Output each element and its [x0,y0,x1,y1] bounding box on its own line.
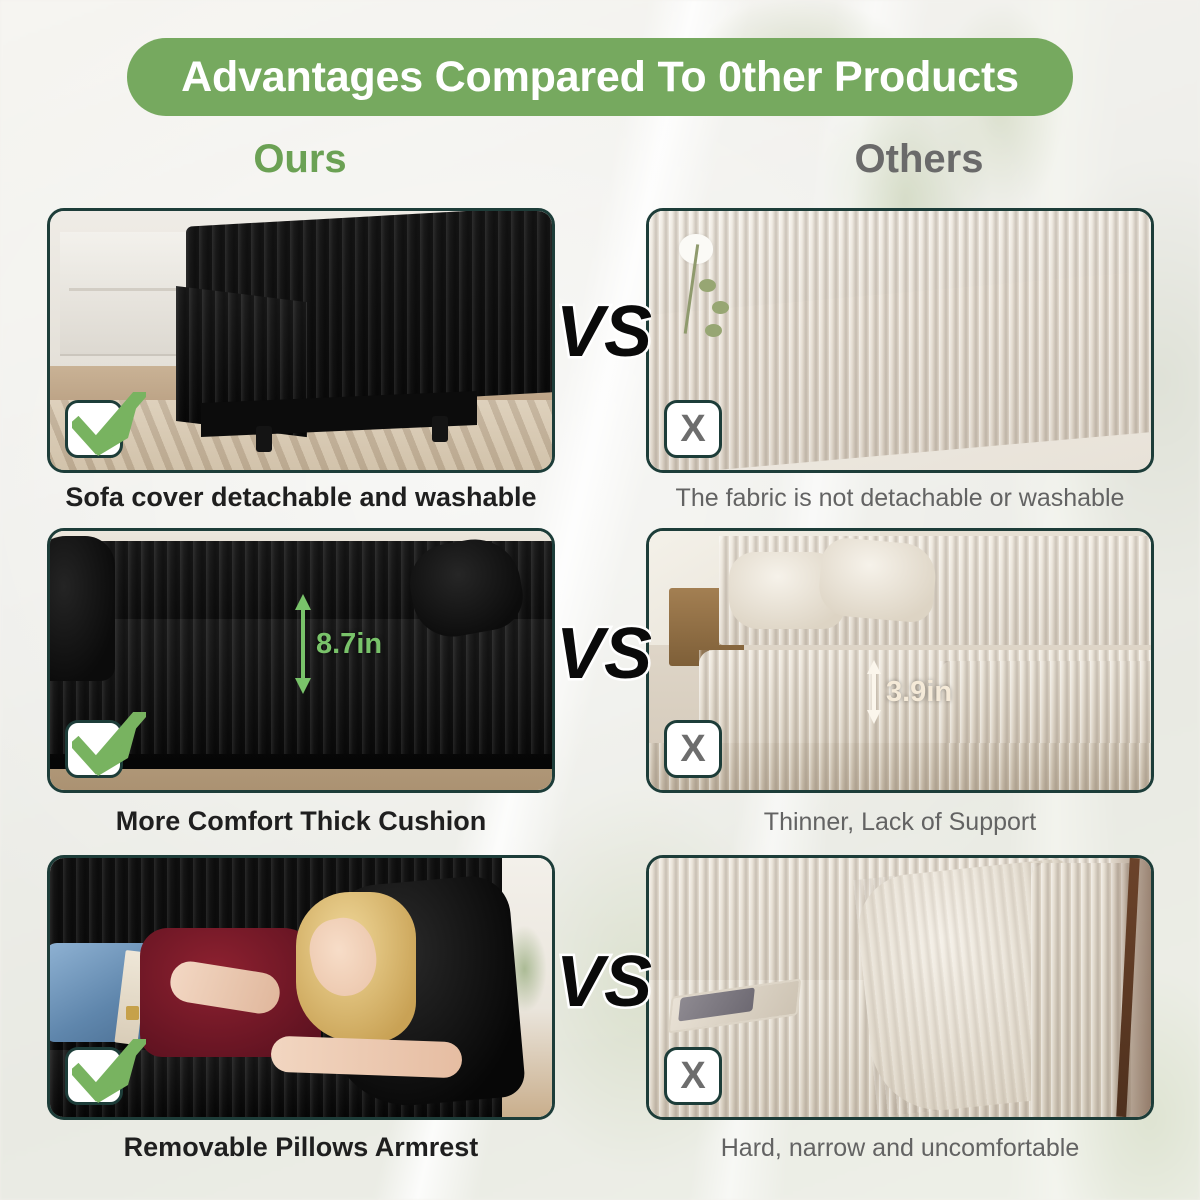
measurement-ours: 8.7in [292,592,382,696]
x-badge: X [664,400,722,458]
ours-photo-card-1 [47,208,555,473]
svg-text:VS: VS [557,294,651,370]
x-badge: X [664,720,722,778]
column-header-others: Others [769,137,1069,182]
double-arrow-icon [864,658,884,726]
others-photo-card-3: X [646,855,1154,1120]
check-icon [72,712,146,778]
check-badge [65,720,123,778]
measurement-others-value: 3.9in [886,676,952,709]
comparison-infographic: Advantages Compared To 0ther Products Ou… [0,0,1200,1200]
caption-others-1: The fabric is not detachable or washable [646,484,1154,513]
double-arrow-icon [292,592,314,696]
ours-photo-card-3 [47,855,555,1120]
x-icon: X [680,1057,705,1095]
photo-cream-sofa-fixed-fabric [649,211,1151,470]
check-badge [65,1047,123,1105]
photo-cream-sofa-hard-narrow-armrest [649,858,1151,1117]
caption-ours-2: More Comfort Thick Cushion [47,806,555,837]
check-badge [65,400,123,458]
svg-text:VS: VS [557,616,651,692]
page-title: Advantages Compared To 0ther Products [181,53,1019,102]
vs-icon: VS [557,294,651,370]
caption-others-2: Thinner, Lack of Support [646,808,1154,837]
decor-orchid [659,232,769,356]
x-icon: X [680,410,705,448]
column-header-ours: Ours [150,137,450,182]
caption-ours-1: Sofa cover detachable and washable [47,482,555,513]
title-banner: Advantages Compared To 0ther Products [127,38,1073,116]
x-badge: X [664,1047,722,1105]
others-photo-card-1: X [646,208,1154,473]
caption-ours-3: Removable Pillows Armrest [47,1132,555,1163]
svg-text:VS: VS [557,944,651,1020]
measurement-others: 3.9in [864,658,952,726]
check-icon [72,392,146,458]
measurement-ours-value: 8.7in [316,628,382,661]
vs-icon: VS [557,616,651,692]
x-icon: X [680,730,705,768]
vs-icon: VS [557,944,651,1020]
caption-others-3: Hard, narrow and uncomfortable [646,1134,1154,1163]
check-icon [72,1039,146,1105]
